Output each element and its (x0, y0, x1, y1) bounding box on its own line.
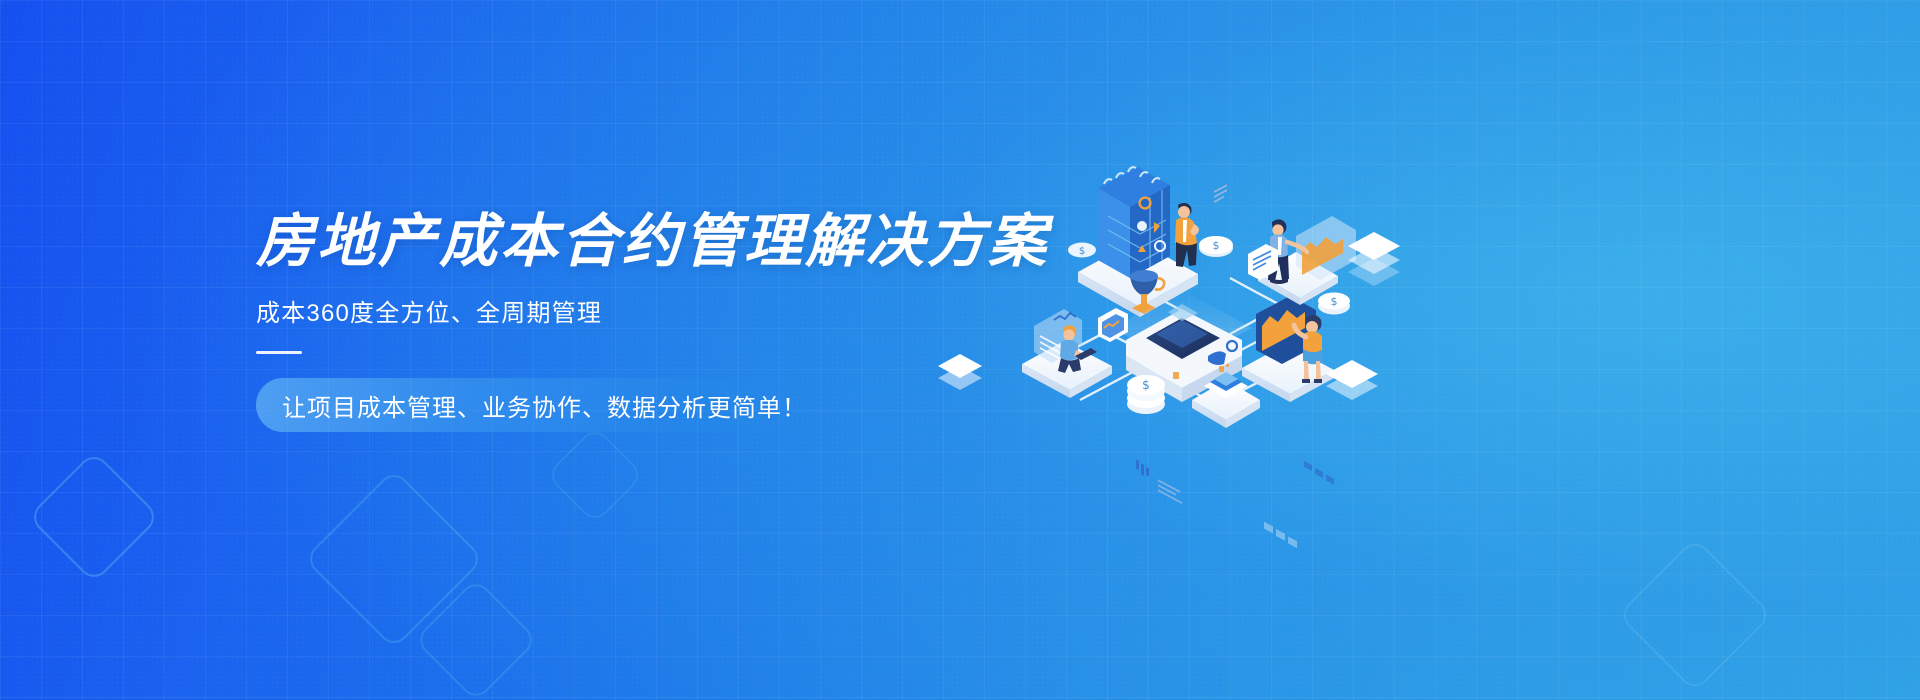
dollar-coin-2: $ (1318, 293, 1350, 315)
coin-stack: $ (1127, 375, 1165, 414)
page-title: 房地产成本合约管理解决方案 (256, 210, 1016, 274)
decorative-diamond-1 (28, 451, 161, 584)
tablet-icon (1098, 308, 1128, 342)
isometric-illustration: $ (930, 150, 1400, 440)
page-subtitle: 成本360度全方位、全周期管理 (256, 300, 1016, 329)
svg-text:$: $ (1213, 239, 1220, 252)
decorative-diamond-4 (546, 426, 645, 525)
person-man-orange (1175, 203, 1199, 267)
title-divider (256, 351, 302, 354)
svg-text:$: $ (1142, 378, 1150, 392)
svg-text:$: $ (1331, 295, 1338, 308)
hero-copy-block: 房地产成本合约管理解决方案 成本360度全方位、全周期管理 (256, 210, 1016, 354)
decorative-diamond-5 (1617, 537, 1773, 693)
tagline-pill: 让项目成本管理、业务协作、数据分析更简单！ (256, 378, 816, 432)
floating-cards-bottom (1326, 360, 1378, 400)
floating-cards-left (938, 354, 982, 390)
svg-text:$: $ (1079, 246, 1085, 257)
hero-banner: 房地产成本合约管理解决方案 成本360度全方位、全周期管理 让项目成本管理、业务… (0, 0, 1920, 700)
dollar-coin-3: $ (1068, 243, 1096, 258)
dollar-coin-1: $ (1199, 236, 1233, 257)
tagline-text: 让项目成本管理、业务协作、数据分析更简单！ (256, 388, 807, 423)
